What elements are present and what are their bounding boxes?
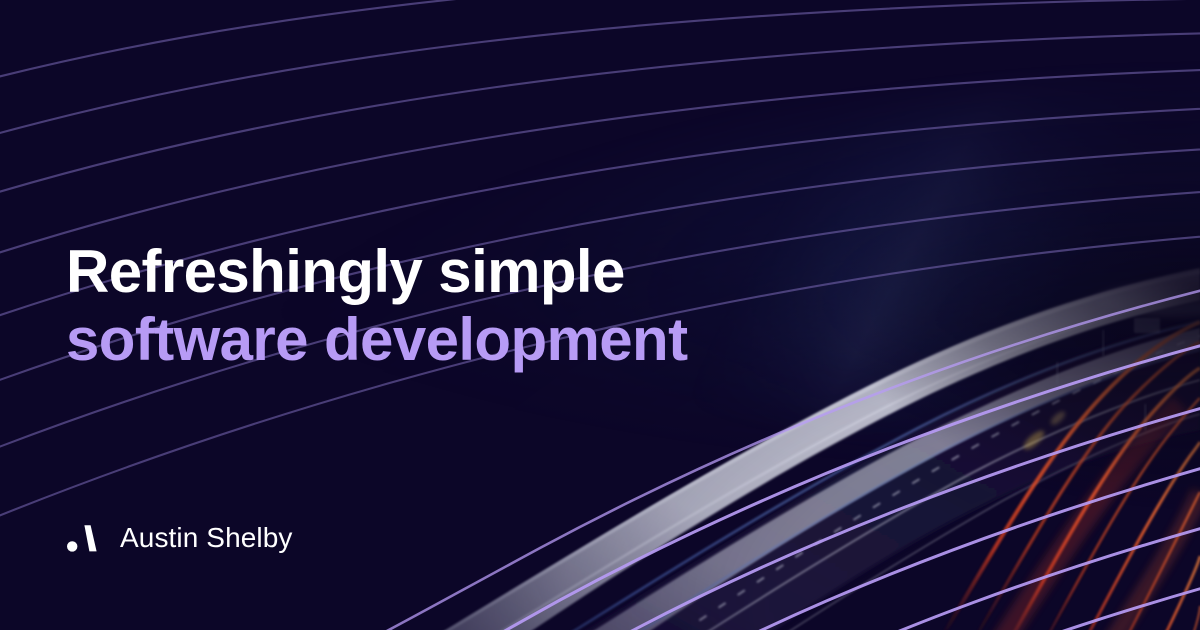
byline: Austin Shelby — [66, 521, 293, 555]
headline-line-1: Refreshingly simple — [66, 238, 688, 306]
card-content: Refreshingly simple software development… — [0, 0, 1200, 630]
author-name: Austin Shelby — [120, 522, 293, 554]
headline-line-2: software development — [66, 306, 688, 374]
austin-shelby-a-logo-icon — [66, 521, 100, 555]
page-title: Refreshingly simple software development — [66, 238, 688, 374]
social-share-card: Refreshingly simple software development… — [0, 0, 1200, 630]
